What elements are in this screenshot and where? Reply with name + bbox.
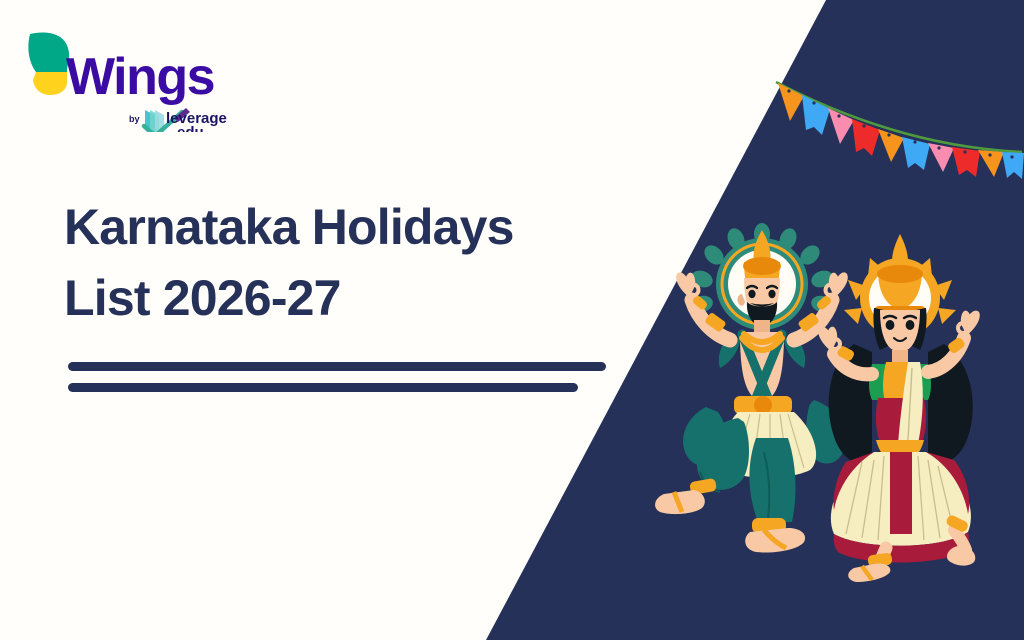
- bunting-decoration: [772, 72, 1024, 192]
- logo-wings-text: Wings: [66, 48, 214, 106]
- bunting-flag-3: [828, 108, 854, 144]
- logo-by-text: by: [129, 114, 140, 124]
- bunting-flag-10: [1002, 152, 1024, 179]
- logo-edu-text: edu: [177, 124, 204, 132]
- logo-swoosh-green-icon: [28, 33, 69, 72]
- yakshagana-dancers-illustration: [646, 222, 1024, 587]
- holiday-banner: Wings by leverage edu Karnataka Holidays…: [0, 0, 1024, 640]
- divider-gap: [68, 371, 606, 383]
- divider: [68, 362, 606, 392]
- page-title-line-1: Karnataka Holidays: [64, 192, 624, 263]
- divider-line-bottom: [68, 383, 578, 392]
- female-left-hand-mudra-icon: [818, 327, 840, 352]
- dancers-svg: [646, 222, 1024, 582]
- page-title: Karnataka Holidays List 2026-27: [64, 192, 624, 334]
- bunting-flag-5: [878, 129, 904, 162]
- bunting-flag-9: [978, 150, 1004, 177]
- logo-svg: Wings by leverage edu: [14, 22, 244, 132]
- bunting-flag-6: [902, 137, 930, 170]
- page-title-line-2: List 2026-27: [64, 263, 624, 334]
- divider-line-top: [68, 362, 606, 371]
- logo-swoosh-yellow-icon: [33, 72, 67, 95]
- bunting-flag-7: [928, 143, 954, 172]
- bunting-svg: [772, 72, 1024, 187]
- female-right-hand-mudra-icon: [958, 311, 980, 336]
- wings-leverage-edu-logo[interactable]: Wings by leverage edu: [14, 22, 244, 132]
- male-dancer: [655, 223, 848, 553]
- bunting-flag-8: [952, 147, 980, 177]
